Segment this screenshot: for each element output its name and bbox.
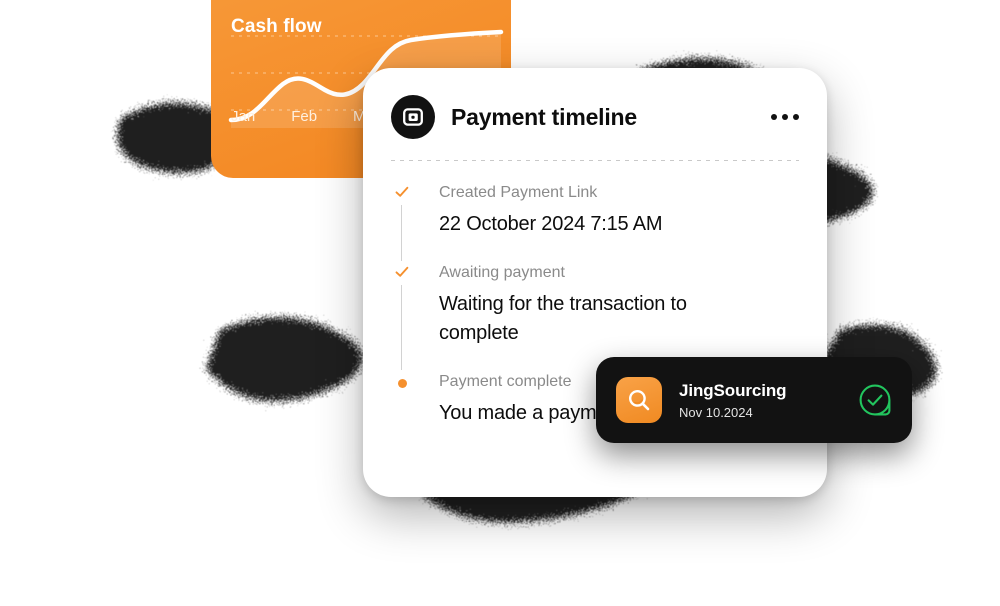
notification-date: Nov 10.2024 xyxy=(679,405,786,420)
notification-text: JingSourcing Nov 10.2024 xyxy=(679,381,786,420)
timeline-connector xyxy=(401,205,402,261)
wallet-icon xyxy=(391,95,435,139)
timeline-connector xyxy=(401,285,402,370)
timeline-item-label: Created Payment Link xyxy=(439,183,799,203)
check-icon xyxy=(391,184,413,200)
payment-card-header: Payment timeline xyxy=(391,94,799,140)
active-dot-icon xyxy=(391,373,413,388)
check-circle-icon xyxy=(858,383,892,417)
page-title: Payment timeline xyxy=(451,104,637,131)
timeline-item-label: Awaiting payment xyxy=(439,263,799,283)
check-icon xyxy=(391,264,413,280)
notification-toast[interactable]: JingSourcing Nov 10.2024 xyxy=(596,357,912,443)
header-divider xyxy=(391,160,799,161)
x-tick-jan: Jan xyxy=(231,108,255,125)
timeline-item[interactable]: Created Payment Link 22 October 2024 7:1… xyxy=(439,183,799,263)
timeline-item-value: 22 October 2024 7:15 AM xyxy=(439,210,769,239)
notification-app-name: JingSourcing xyxy=(679,381,786,401)
search-icon xyxy=(616,377,662,423)
more-options-icon[interactable] xyxy=(771,114,799,120)
screenshot-stage: Cash flow Jan Feb Mar xyxy=(0,0,1000,606)
x-tick-feb: Feb xyxy=(291,108,317,125)
timeline-item-value: Waiting for the transaction to complete xyxy=(439,290,769,348)
timeline-item[interactable]: Awaiting payment Waiting for the transac… xyxy=(439,263,799,372)
